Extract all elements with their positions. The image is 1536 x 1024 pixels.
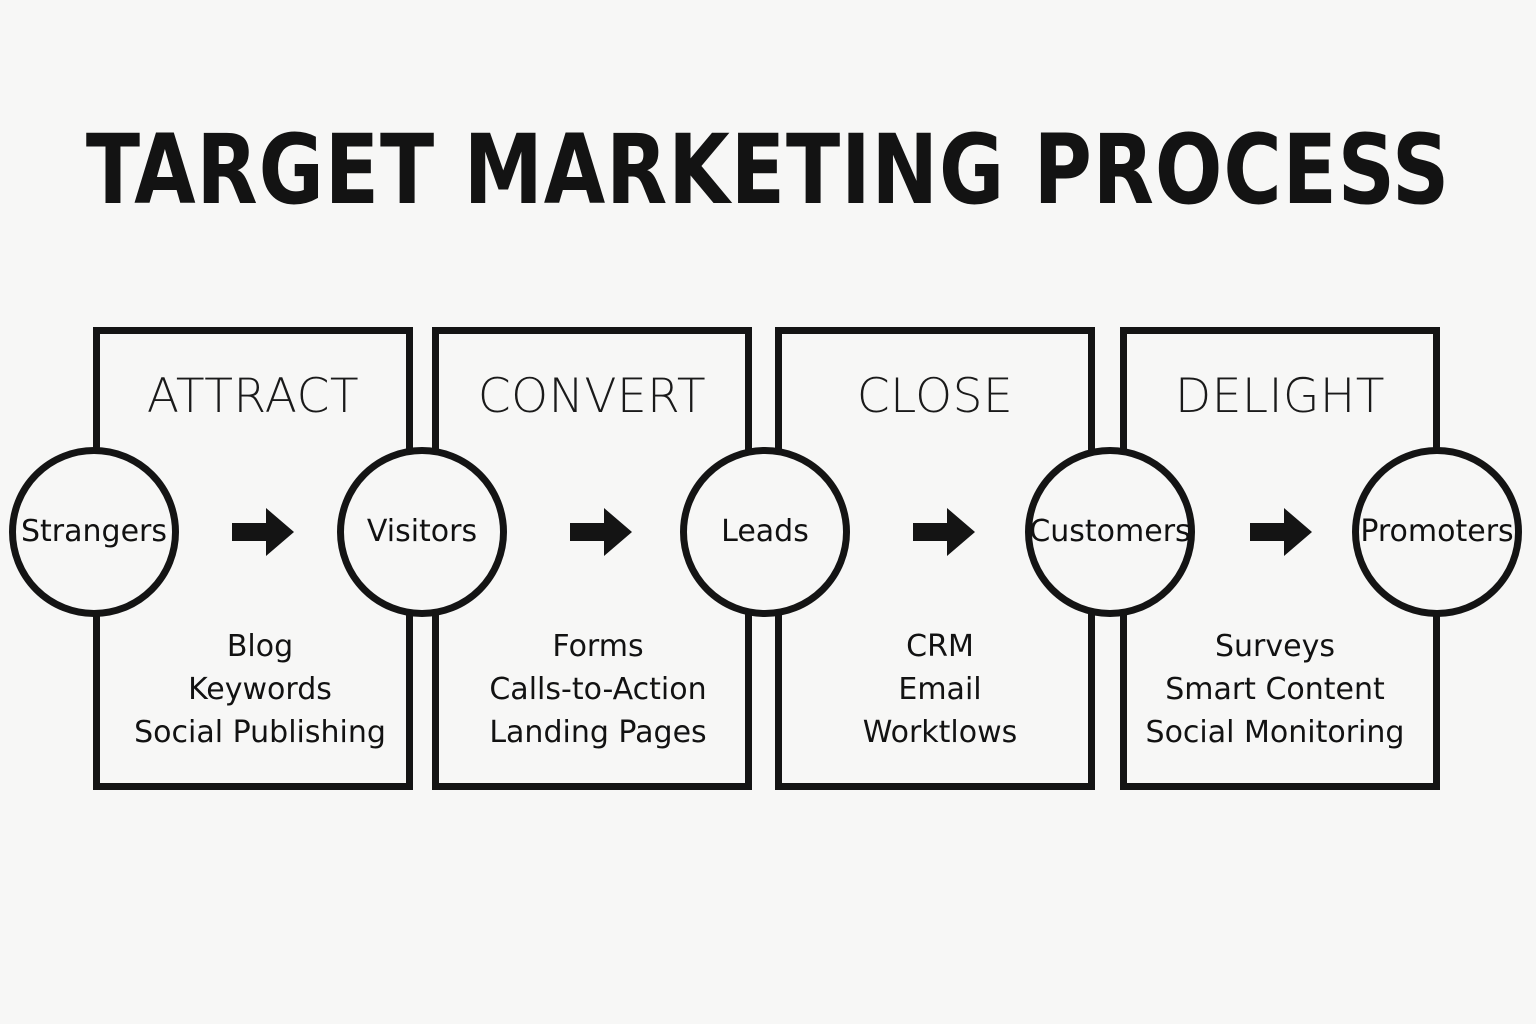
- arrow-right-icon: [1250, 505, 1312, 559]
- tactic-list-close: CRM Email Worktlows: [780, 625, 1100, 754]
- tactic-list-convert: Forms Calls-to-Action Landing Pages: [438, 625, 758, 754]
- node-label: Customers: [1029, 515, 1190, 549]
- node-label: Leads: [721, 515, 809, 549]
- tactic-list-delight: Surveys Smart Content Social Monitoring: [1115, 625, 1435, 754]
- node-strangers: Strangers: [9, 447, 179, 617]
- tactic-item: Smart Content: [1115, 668, 1435, 711]
- arrow-right-icon: [232, 505, 294, 559]
- tactic-item: Social Publishing: [100, 711, 420, 754]
- node-visitors: Visitors: [337, 447, 507, 617]
- stage-header-delight: DELIGHT: [1120, 368, 1440, 426]
- tactic-item: Landing Pages: [438, 711, 758, 754]
- node-label: Promoters: [1360, 515, 1513, 549]
- tactic-item: Surveys: [1115, 625, 1435, 668]
- node-label: Strangers: [21, 515, 167, 549]
- node-leads: Leads: [680, 447, 850, 617]
- node-customers: Customers: [1025, 447, 1195, 617]
- tactic-item: Calls-to-Action: [438, 668, 758, 711]
- tactic-item: Worktlows: [780, 711, 1100, 754]
- arrow-right-icon: [913, 505, 975, 559]
- node-label: Visitors: [367, 515, 477, 549]
- tactic-item: Social Monitoring: [1115, 711, 1435, 754]
- stage-header-close: CLOSE: [775, 368, 1095, 426]
- stage-header-convert: CONVERT: [432, 368, 752, 426]
- tactic-item: CRM: [780, 625, 1100, 668]
- diagram-canvas: TARGET MARKETING PROCESS ATTRACT CONVERT…: [0, 0, 1536, 1024]
- page-title: TARGET MARKETING PROCESS: [61, 118, 1474, 222]
- tactic-item: Email: [780, 668, 1100, 711]
- tactic-item: Blog: [100, 625, 420, 668]
- arrow-right-icon: [570, 505, 632, 559]
- tactic-item: Forms: [438, 625, 758, 668]
- node-promoters: Promoters: [1352, 447, 1522, 617]
- stage-header-attract: ATTRACT: [93, 368, 413, 426]
- tactic-item: Keywords: [100, 668, 420, 711]
- tactic-list-attract: Blog Keywords Social Publishing: [100, 625, 420, 754]
